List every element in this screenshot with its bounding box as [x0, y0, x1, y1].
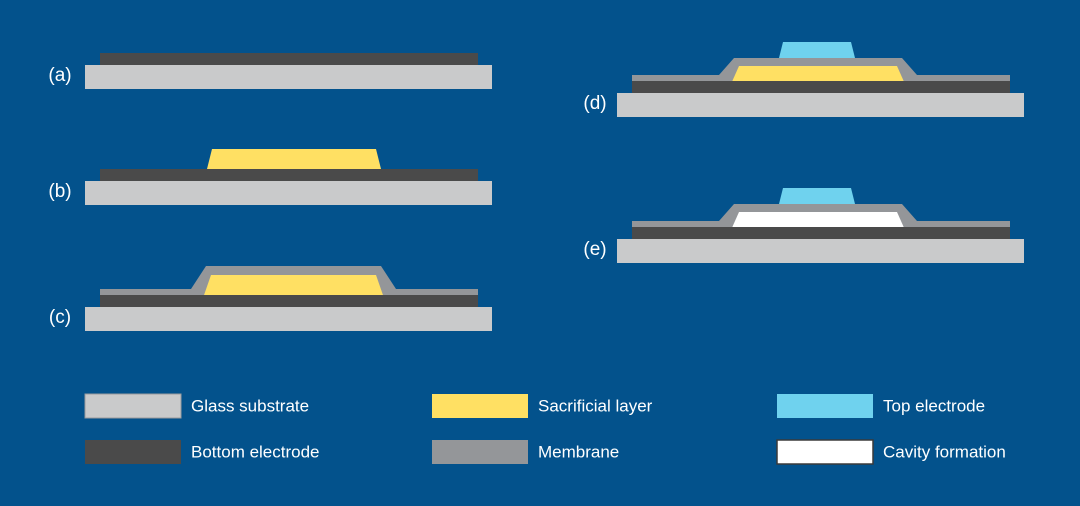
panel-a-bottom-electrode	[100, 53, 478, 65]
panel-c-label: (c)	[49, 307, 71, 328]
legend-label-sacrificial-layer: Sacrificial layer	[538, 396, 653, 415]
panel-e-bottom-electrode	[632, 227, 1010, 239]
panel-d-label: (d)	[583, 93, 606, 114]
legend-swatch-bottom-electrode	[85, 440, 181, 464]
legend-label-top-electrode: Top electrode	[883, 396, 985, 415]
legend-swatch-membrane	[432, 440, 528, 464]
process-flow-figure: (a) (b) (c) (d) (e)	[0, 0, 1080, 506]
legend-item-sacrificial-layer: Sacrificial layer	[432, 394, 653, 418]
legend-swatch-sacrificial-layer	[432, 394, 528, 418]
legend-swatch-top-electrode	[777, 394, 873, 418]
panel-d-glass-substrate	[617, 93, 1024, 117]
panel-c-sacrificial-layer	[203, 275, 384, 298]
panel-b-label: (b)	[48, 181, 71, 202]
legend-label-cavity-formation: Cavity formation	[883, 442, 1006, 461]
legend-label-bottom-electrode: Bottom electrode	[191, 442, 320, 461]
panel-a-label: (a)	[48, 65, 71, 86]
panel-c-glass-substrate	[85, 307, 492, 331]
legend-swatch-glass-substrate	[85, 394, 181, 418]
panel-a-glass-substrate	[85, 65, 492, 89]
legend-label-membrane: Membrane	[538, 442, 619, 461]
legend-item-bottom-electrode: Bottom electrode	[85, 440, 320, 464]
panel-a: (a)	[48, 53, 492, 89]
panel-e-label: (e)	[583, 239, 606, 260]
legend-label-glass-substrate: Glass substrate	[191, 396, 309, 415]
panel-d-bottom-electrode	[632, 81, 1010, 93]
panel-e-glass-substrate	[617, 239, 1024, 263]
legend-item-cavity-formation: Cavity formation	[777, 440, 1006, 464]
panel-b-bottom-electrode	[100, 169, 478, 181]
legend-item-membrane: Membrane	[432, 440, 619, 464]
panel-b-glass-substrate	[85, 181, 492, 205]
legend-item-glass-substrate: Glass substrate	[85, 394, 309, 418]
legend-swatch-cavity-formation	[777, 440, 873, 464]
panel-c-bottom-electrode	[100, 295, 478, 307]
